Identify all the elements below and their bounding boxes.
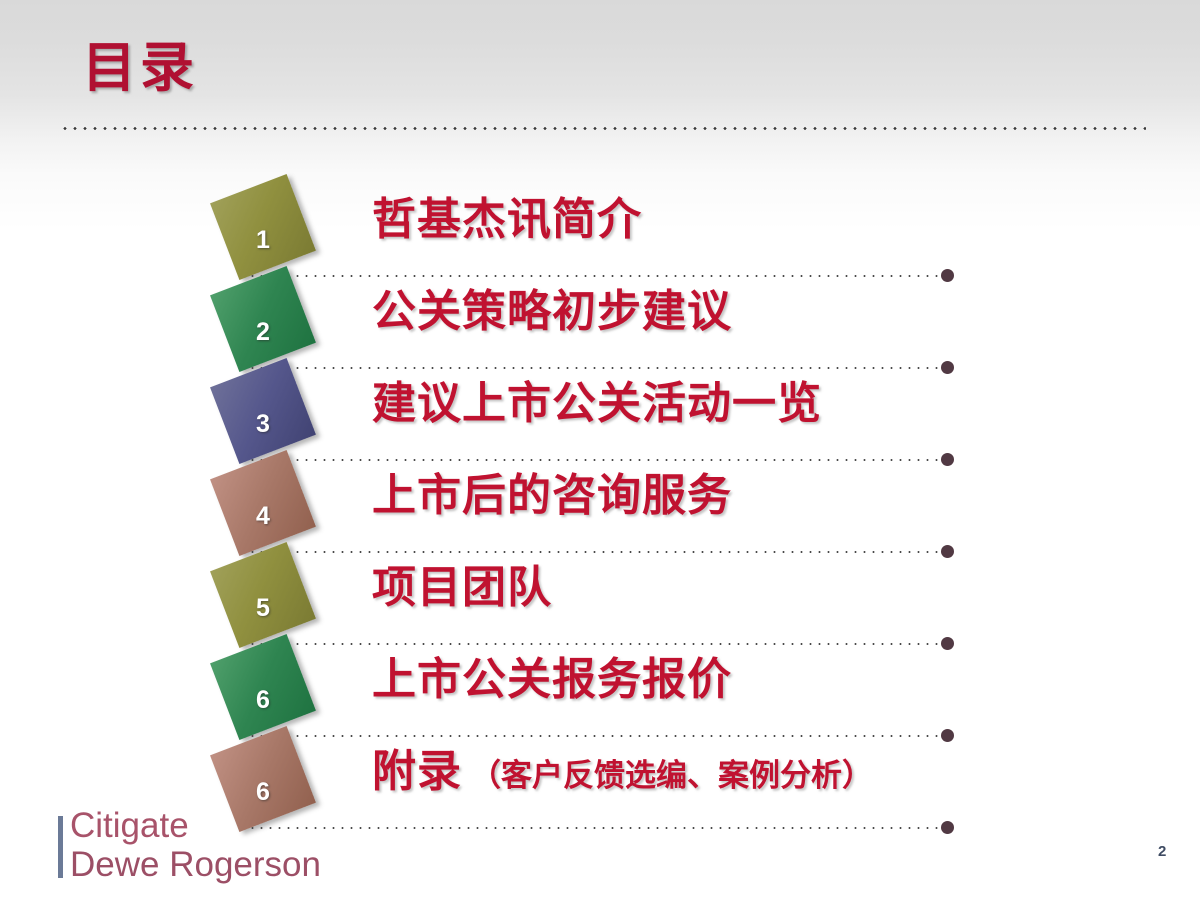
slide-canvas: 目录 1 哲基杰讯简介 2 公关策略初步建议 bbox=[0, 0, 1200, 900]
agenda-label-3: 建议上市公关活动一览 bbox=[372, 376, 822, 432]
agenda-label-4: 上市后的咨询服务 bbox=[372, 468, 732, 524]
agenda-label-main-5: 项目团队 bbox=[372, 562, 552, 613]
agenda-label-main-1: 哲基杰讯简介 bbox=[372, 194, 642, 245]
logo-line-1: Citigate bbox=[70, 806, 189, 845]
agenda-label-main-6: 上市公关报务报价 bbox=[372, 654, 732, 705]
company-logo: Citigate Dewe Rogerson bbox=[58, 812, 308, 884]
agenda-marker-4: 4 bbox=[222, 462, 304, 544]
agenda-label-main-2: 公关策略初步建议 bbox=[372, 286, 732, 337]
agenda-number-7: 6 bbox=[222, 738, 304, 820]
logo-accent-bar-icon bbox=[58, 816, 63, 878]
agenda-label-main-4: 上市后的咨询服务 bbox=[372, 470, 732, 521]
agenda-marker-6: 6 bbox=[222, 646, 304, 728]
agenda-connector-7 bbox=[248, 826, 944, 830]
agenda-number-5: 5 bbox=[222, 554, 304, 636]
logo-line-2: Dewe Rogerson bbox=[70, 845, 321, 884]
agenda-marker-5: 5 bbox=[222, 554, 304, 636]
agenda-label-main-3: 建议上市公关活动一览 bbox=[372, 378, 822, 429]
agenda-marker-1: 1 bbox=[222, 186, 304, 268]
agenda-label-sub-7: （客户反馈选编、案例分析） bbox=[470, 758, 873, 794]
agenda-list: 1 哲基杰讯简介 2 公关策略初步建议 3 bbox=[0, 178, 1200, 822]
agenda-item-4[interactable]: 4 上市后的咨询服务 bbox=[0, 454, 1200, 546]
agenda-number-4: 4 bbox=[222, 462, 304, 544]
agenda-number-1: 1 bbox=[222, 186, 304, 268]
agenda-number-2: 2 bbox=[222, 278, 304, 360]
agenda-item-3[interactable]: 3 建议上市公关活动一览 bbox=[0, 362, 1200, 454]
agenda-label-7: 附录（客户反馈选编、案例分析） bbox=[372, 744, 873, 804]
agenda-marker-7: 6 bbox=[222, 738, 304, 820]
agenda-marker-2: 2 bbox=[222, 278, 304, 360]
agenda-label-2: 公关策略初步建议 bbox=[372, 284, 732, 340]
agenda-label-main-7: 附录 bbox=[372, 746, 462, 797]
page-title: 目录 bbox=[82, 36, 198, 98]
agenda-label-1: 哲基杰讯简介 bbox=[372, 192, 642, 248]
page-number: 2 bbox=[1158, 843, 1166, 860]
agenda-number-6: 6 bbox=[222, 646, 304, 728]
agenda-number-3: 3 bbox=[222, 370, 304, 452]
agenda-item-1[interactable]: 1 哲基杰讯简介 bbox=[0, 178, 1200, 270]
agenda-marker-3: 3 bbox=[222, 370, 304, 452]
agenda-label-6: 上市公关报务报价 bbox=[372, 652, 732, 708]
agenda-label-5: 项目团队 bbox=[372, 560, 552, 616]
agenda-bullet-7 bbox=[941, 821, 954, 834]
header-divider bbox=[60, 126, 1146, 131]
agenda-item-2[interactable]: 2 公关策略初步建议 bbox=[0, 270, 1200, 362]
agenda-item-5[interactable]: 5 项目团队 bbox=[0, 546, 1200, 638]
agenda-item-6[interactable]: 6 上市公关报务报价 bbox=[0, 638, 1200, 730]
